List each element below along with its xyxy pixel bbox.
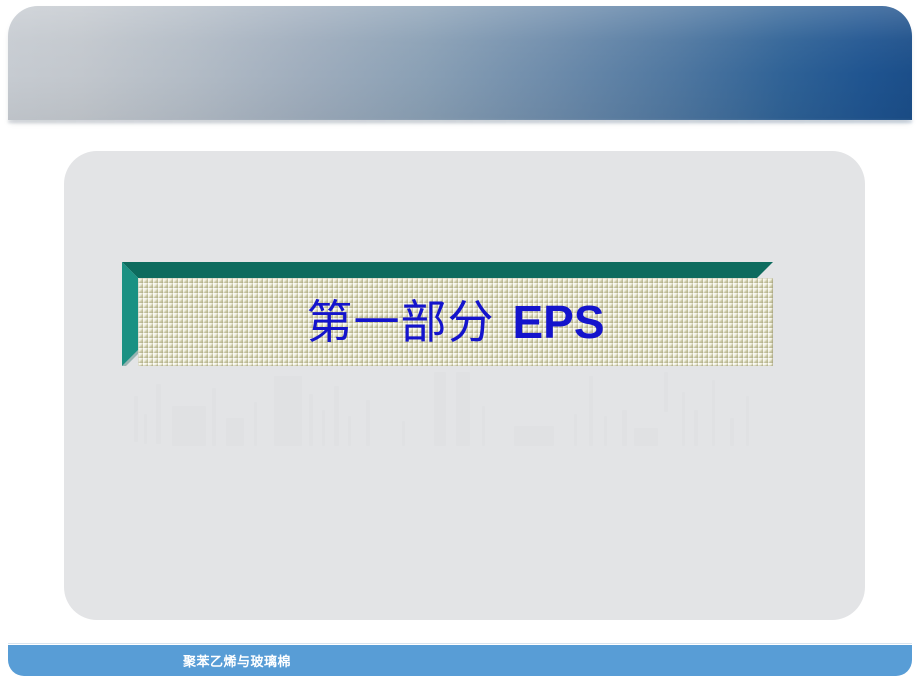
header-banner-underline bbox=[8, 120, 912, 123]
background-watermark-art bbox=[134, 366, 774, 511]
header-banner-sheen bbox=[8, 6, 912, 120]
header-banner bbox=[8, 6, 912, 120]
footer-bar: 聚苯乙烯与玻璃棉 bbox=[8, 645, 912, 676]
title-plaque: 第一部分 EPS bbox=[122, 262, 773, 366]
footer-label: 聚苯乙烯与玻璃棉 bbox=[183, 645, 291, 676]
title-plaque-face: 第一部分 EPS bbox=[138, 278, 773, 366]
slide-title-latin: EPS bbox=[512, 299, 604, 345]
presentation-slide: 第一部分 EPS 聚苯乙烯与玻璃棉 bbox=[0, 0, 920, 690]
footer-hairline bbox=[8, 643, 912, 644]
slide-title-cjk: 第一部分 bbox=[306, 299, 494, 345]
title-text-wrapper: 第一部分 EPS bbox=[138, 278, 773, 366]
content-panel bbox=[64, 151, 865, 620]
